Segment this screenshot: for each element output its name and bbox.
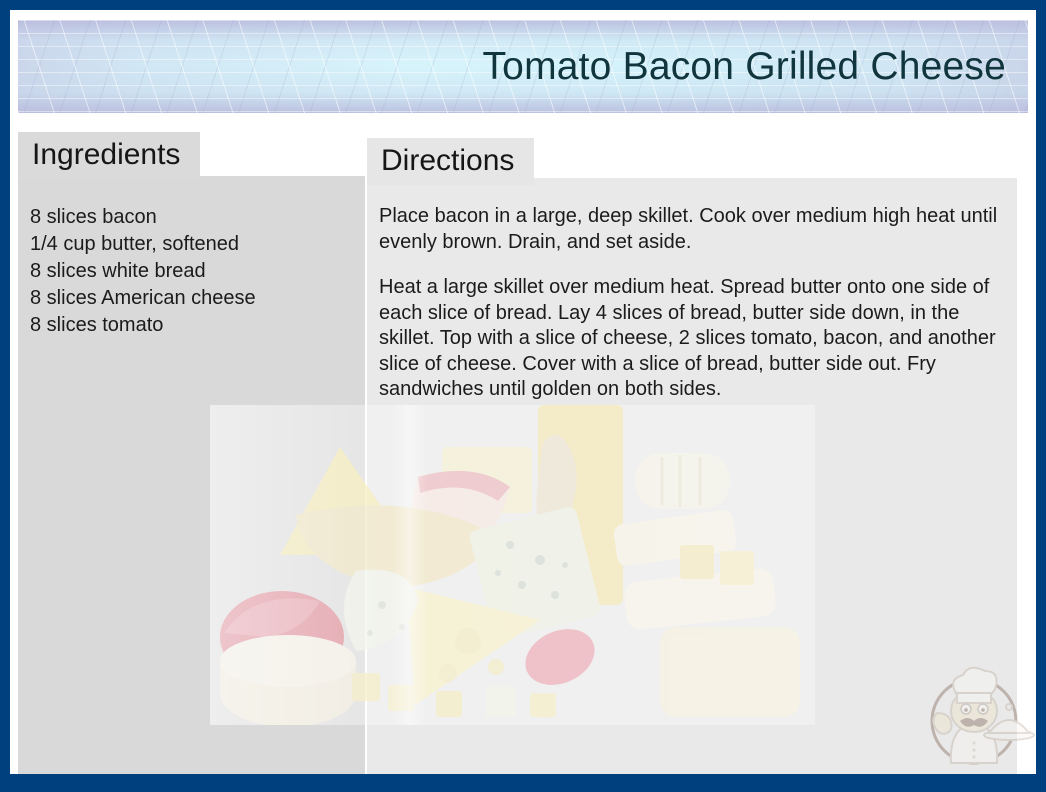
- ingredients-panel: 8 slices bacon 1/4 cup butter, softened …: [18, 176, 365, 774]
- page-inner: Tomato Bacon Grilled Cheese 8 slices bac…: [10, 10, 1036, 774]
- list-item: 1/4 cup butter, softened: [30, 231, 365, 258]
- ingredients-list: 8 slices bacon 1/4 cup butter, softened …: [18, 176, 365, 339]
- recipe-card: Tomato Bacon Grilled Cheese 8 slices bac…: [0, 0, 1046, 792]
- section-heading-directions: Directions: [367, 138, 534, 185]
- directions-panel: Place bacon in a large, deep skillet. Co…: [367, 178, 1017, 774]
- list-item: 8 slices white bread: [30, 258, 365, 285]
- page-title: Tomato Bacon Grilled Cheese: [482, 45, 1006, 89]
- list-item: 8 slices tomato: [30, 312, 365, 339]
- list-item: 8 slices bacon: [30, 204, 365, 231]
- direction-paragraph: Place bacon in a large, deep skillet. Co…: [379, 204, 999, 255]
- direction-paragraph: Heat a large skillet over medium heat. S…: [379, 275, 999, 403]
- title-banner: Tomato Bacon Grilled Cheese: [18, 20, 1028, 113]
- list-item: 8 slices American cheese: [30, 285, 365, 312]
- directions-text: Place bacon in a large, deep skillet. Co…: [367, 178, 1017, 403]
- section-heading-ingredients: Ingredients: [18, 132, 200, 179]
